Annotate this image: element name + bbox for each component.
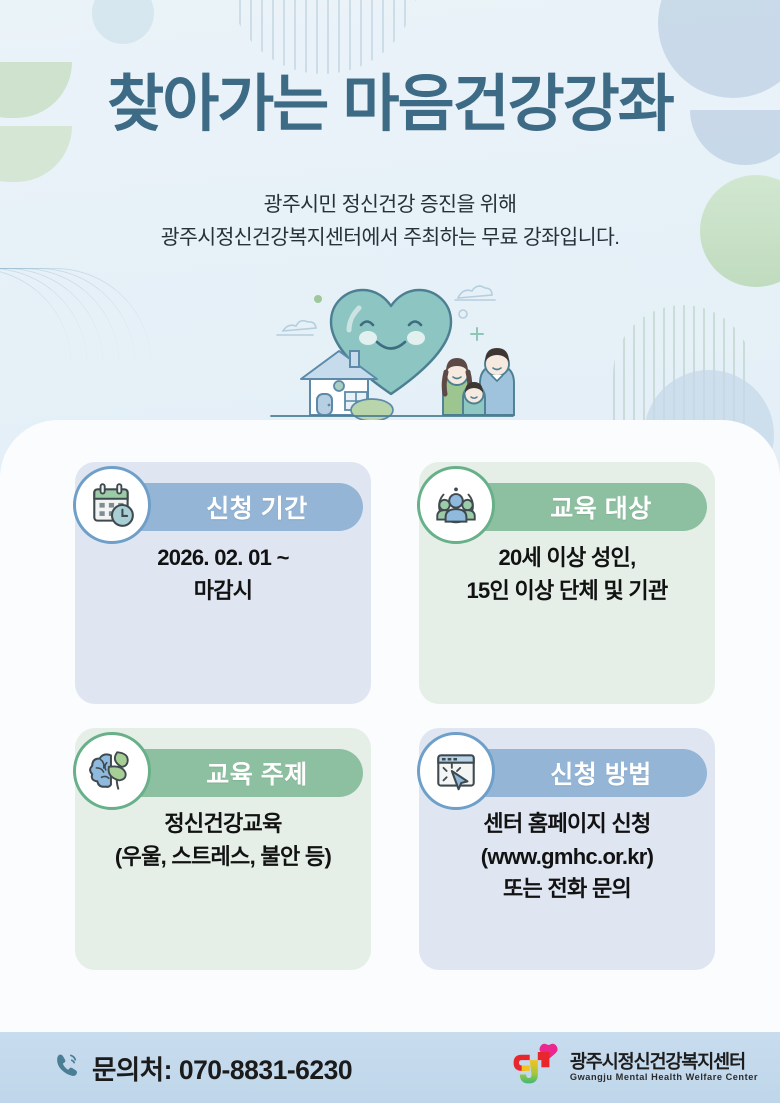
organization-logo: 광주시정신건강복지센터 Gwangju Mental Health Welfar… xyxy=(510,1043,758,1093)
card-application-method: 신청 방법 센터 홈페이지 신청 (www.gmhc.or.kr) 또는 전화 … xyxy=(419,728,715,970)
gmhc-logo-glyph xyxy=(510,1043,562,1088)
logo-name-ko: 광주시정신건강복지센터 xyxy=(570,1052,758,1072)
card-body-application-method: 센터 홈페이지 신청 (www.gmhc.or.kr) 또는 전화 문의 xyxy=(419,802,715,906)
browser-cursor-glyph xyxy=(431,746,481,796)
footer-bar: 문의처: 070-8831-6230 xyxy=(0,1032,780,1103)
page-title: 찾아가는 마음건강강좌 xyxy=(0,72,780,137)
logo-text-block: 광주시정신건강복지센터 Gwangju Mental Health Welfar… xyxy=(570,1052,758,1084)
striped-arc-decoration-top xyxy=(228,0,418,74)
footer-contact: 문의처: 070-8831-6230 xyxy=(52,1048,352,1087)
gmhc-g-heart-logo-icon xyxy=(510,1043,562,1093)
hero-illustration xyxy=(255,272,527,432)
phone-ringing-glyph xyxy=(52,1051,81,1080)
subtitle-line-2: 광주시정신건강복지센터에서 주최하는 무료 강좌입니다. xyxy=(0,221,780,254)
subtitle-line-1: 광주시민 정신건강 증진을 위해 xyxy=(0,188,780,221)
card-body-application-period: 2026. 02. 01 ~ 마감시 xyxy=(75,536,371,607)
logo-name-en: Gwangju Mental Health Welfare Center xyxy=(570,1072,758,1084)
card-label-target-audience: 교육 대상 xyxy=(550,489,651,525)
card-education-topic: 교육 주제 정신건강교육 (우울, 스트레스, 불안 등) xyxy=(75,728,371,970)
card-label-application-period: 신청 기간 xyxy=(206,489,307,525)
people-group-icon xyxy=(417,466,495,544)
brain-leaf-glyph xyxy=(87,746,137,796)
brain-leaf-icon xyxy=(73,732,151,810)
info-card-grid: 신청 기간 xyxy=(75,462,715,970)
card-label-education-topic: 교육 주제 xyxy=(206,755,307,791)
page-subtitle: 광주시민 정신건강 증진을 위해 광주시정신건강복지센터에서 주최하는 무료 강… xyxy=(0,188,780,254)
browser-cursor-icon xyxy=(417,732,495,810)
contact-phone-text: 문의처: 070-8831-6230 xyxy=(92,1048,352,1087)
phone-ringing-icon xyxy=(52,1051,81,1085)
card-label-application-method: 신청 방법 xyxy=(550,755,651,791)
card-body-target-audience: 20세 이상 성인, 15인 이상 단체 및 기관 xyxy=(419,536,715,607)
card-application-period: 신청 기간 xyxy=(75,462,371,704)
content-panel: 신청 기간 xyxy=(0,420,780,1032)
card-body-education-topic: 정신건강교육 (우울, 스트레스, 불안 등) xyxy=(75,802,371,873)
calendar-clock-icon xyxy=(73,466,151,544)
card-target-audience: 교육 대상 20세 이상 xyxy=(419,462,715,704)
poster-root: 찾아가는 마음건강강좌 광주시민 정신건강 증진을 위해 광주시정신건강복지센터… xyxy=(0,0,780,1103)
calendar-clock-glyph xyxy=(87,480,137,530)
striped-arc-decoration-right xyxy=(613,305,753,423)
heart-house-family-svg xyxy=(255,272,527,432)
people-group-glyph xyxy=(431,480,481,530)
circle-decoration-top-left xyxy=(92,0,154,44)
